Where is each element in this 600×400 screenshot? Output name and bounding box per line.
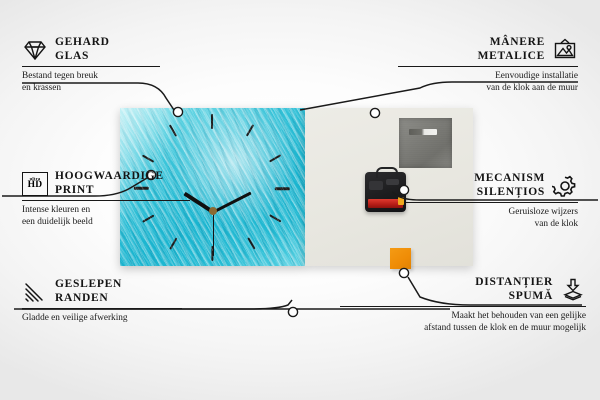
- callout-description: Gladde en veilige afwerking: [22, 313, 202, 325]
- clock-tick-10: [142, 154, 154, 163]
- beveled-edges-icon: [22, 280, 48, 304]
- callout-divider: [340, 306, 586, 307]
- callout-manere-metalice: MÂNEREMETALICE Eenvoudige installatievan…: [378, 36, 578, 94]
- mechanism-detail-left: [369, 181, 383, 190]
- callout-description: Maakt het behouden van een gelijkeafstan…: [326, 311, 586, 334]
- callout-description: Bestand tegen breuken krassen: [22, 71, 197, 94]
- callout-distantier-spuma: DISTANȚIERSPUMĂ Maakt het behouden van e…: [326, 276, 586, 334]
- callout-gehard-glas: GEHARDGLAS Bestand tegen breuken krassen: [22, 36, 197, 94]
- callout-title: GEHARDGLAS: [55, 36, 110, 63]
- callout-divider: [398, 66, 578, 67]
- clock-tick-12: [211, 114, 213, 129]
- callout-description: Geruisloze wijzersvan de klok: [393, 207, 578, 230]
- callout-hoogwaardige-print: ultra HD HOOGWAARDIGEPRINT Intense kleur…: [22, 170, 212, 228]
- spacer-stack-icon: [560, 278, 586, 302]
- wall-picture-hanger-icon: [552, 38, 578, 62]
- callout-divider: [22, 200, 190, 201]
- metal-hanger-plate: [399, 118, 452, 168]
- clock-tick-7: [169, 237, 178, 249]
- clock-tick-2: [269, 154, 281, 163]
- callout-title: DISTANȚIERSPUMĂ: [475, 276, 553, 303]
- clock-tick-5: [247, 237, 256, 249]
- callout-geslepen-randen: GESLEPENRANDEN Gladde en veilige afwerki…: [22, 278, 202, 325]
- clock-tick-4: [269, 214, 281, 223]
- callout-description: Intense kleuren eneen duidelijk beeld: [22, 205, 212, 228]
- callout-title: HOOGWAARDIGEPRINT: [55, 170, 164, 197]
- callout-header: GESLEPENRANDEN: [22, 278, 202, 305]
- infographic-canvas: GEHARDGLAS Bestand tegen breuken krassen…: [0, 0, 600, 400]
- clock-tick-1: [246, 124, 255, 136]
- foam-spacer: [390, 248, 411, 269]
- callout-divider: [22, 308, 182, 309]
- callout-title: MECANISMSILENȚIOS: [474, 172, 545, 199]
- clock-tick-3: [275, 187, 290, 190]
- callout-description: Eenvoudige installatievan de klok aan de…: [378, 71, 578, 94]
- callout-header: GEHARDGLAS: [22, 36, 197, 63]
- clock-tick-11: [169, 124, 178, 136]
- diamond-icon: [22, 38, 48, 62]
- callout-title: GESLEPENRANDEN: [55, 278, 122, 305]
- clock-second-hand: [213, 210, 215, 256]
- callout-header: DISTANȚIERSPUMĂ: [326, 276, 586, 303]
- ultra-hd-icon: ultra HD: [22, 172, 48, 196]
- callout-divider: [22, 66, 160, 67]
- callout-mecanism-silentios: MECANISMSILENȚIOS Geruisloze wijzersvan …: [393, 172, 578, 230]
- gear-icon: [552, 174, 578, 198]
- hanger-slot: [409, 129, 437, 135]
- callout-header: MÂNEREMETALICE: [378, 36, 578, 63]
- callout-title: MÂNEREMETALICE: [478, 36, 545, 63]
- callout-divider: [406, 202, 578, 203]
- callout-header: MECANISMSILENȚIOS: [393, 172, 578, 199]
- callout-header: ultra HD HOOGWAARDIGEPRINT: [22, 170, 212, 197]
